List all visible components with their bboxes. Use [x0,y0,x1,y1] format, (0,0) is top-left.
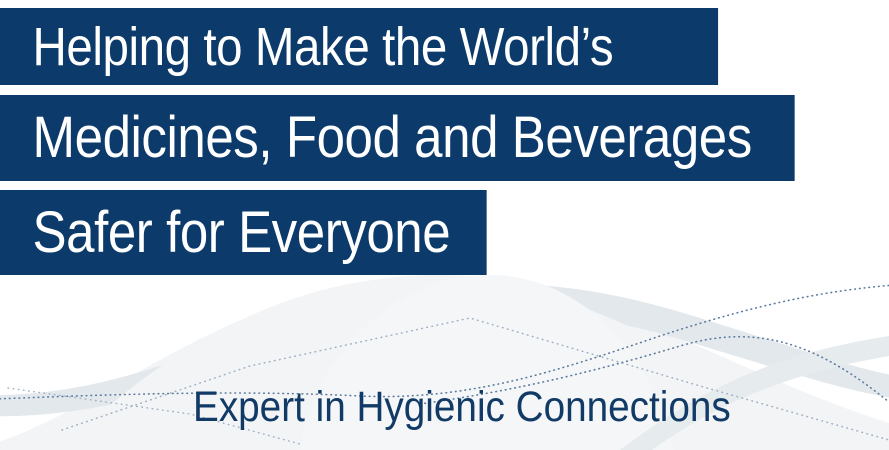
headline-line-2: Medicines, Food and Beverages [0,95,795,181]
dotted-line-left [0,285,889,399]
promotional-banner-slide: Helping to Make the World’s Medicines, F… [0,0,889,450]
headline-line-3: Safer for Everyone [0,190,487,275]
headline-line-2-text: Medicines, Food and Beverages [33,109,752,167]
tagline: Expert in Hygienic Connections [193,385,731,430]
headline-line-1: Helping to Make the World’s [0,8,718,85]
headline-line-3-text: Safer for Everyone [33,204,451,262]
headline-line-1-text: Helping to Make the World’s [33,20,614,74]
tagline-text: Expert in Hygienic Connections [193,383,731,431]
